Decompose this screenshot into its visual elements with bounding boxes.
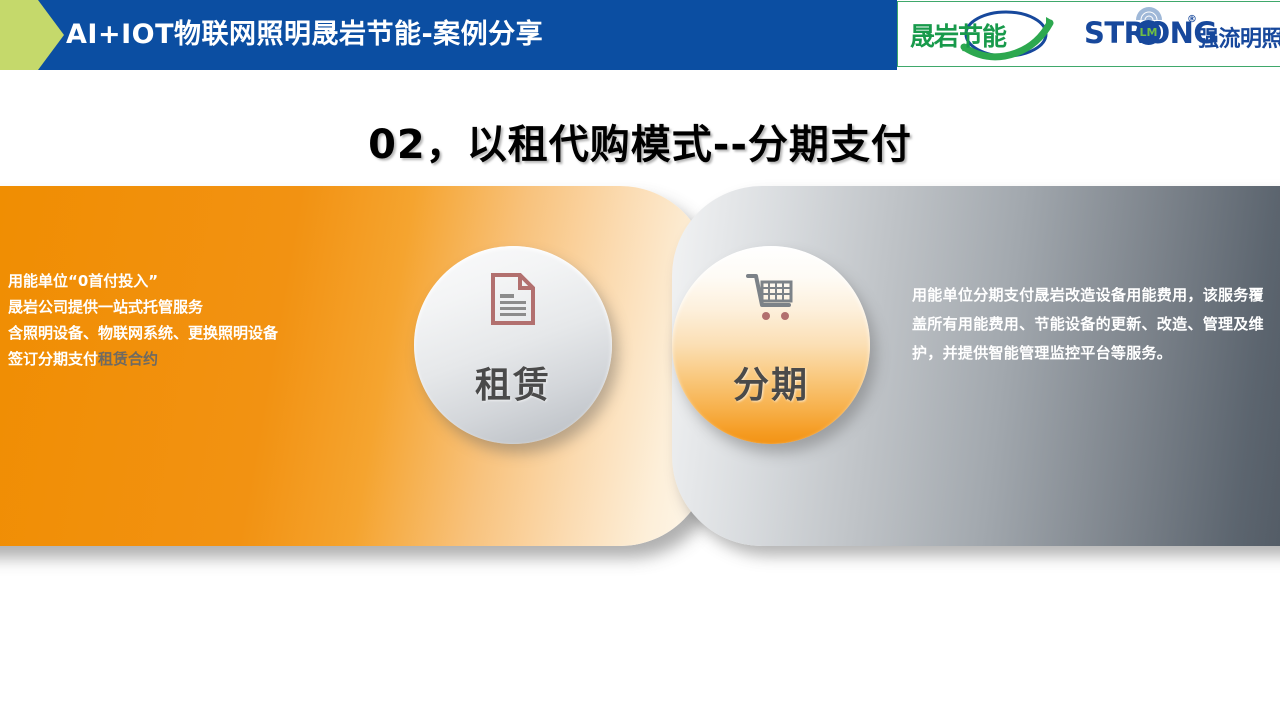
logo-brand-cn: 晟岩节能 xyxy=(910,17,1006,53)
diagram-body: 用能单位“0首付投入” 晟岩公司提供一站式托管服务 含照明设备、物联网系统、更换… xyxy=(0,0,1280,720)
rental-panel-text: 用能单位“0首付投入” 晟岩公司提供一站式托管服务 含照明设备、物联网系统、更换… xyxy=(8,268,308,372)
rental-line-4: 签订分期支付租赁合约 xyxy=(8,346,308,372)
rental-circle-label: 租赁 xyxy=(414,356,612,408)
installment-circle[interactable]: 分期 xyxy=(672,246,870,444)
rental-circle[interactable]: 租赁 xyxy=(414,246,612,444)
installment-panel-text: 用能单位分期支付晟岩改造设备用能费用，该服务覆盖所有用能费用、节能设备的更新、改… xyxy=(912,281,1264,368)
installment-circle-label: 分期 xyxy=(672,356,870,408)
rental-line-2: 晟岩公司提供一站式托管服务 xyxy=(8,294,308,320)
shopping-cart-icon xyxy=(672,272,870,328)
document-icon xyxy=(414,272,612,330)
logo-lm-mark: LM xyxy=(1136,20,1161,45)
rental-line-4-highlight: 租赁合约 xyxy=(98,350,158,368)
rental-line-3: 含照明设备、物联网系统、更换照明设备 xyxy=(8,320,308,346)
rental-line-4-plain: 签订分期支付 xyxy=(8,350,98,368)
rental-line-1: 用能单位“0首付投入” xyxy=(8,268,308,294)
